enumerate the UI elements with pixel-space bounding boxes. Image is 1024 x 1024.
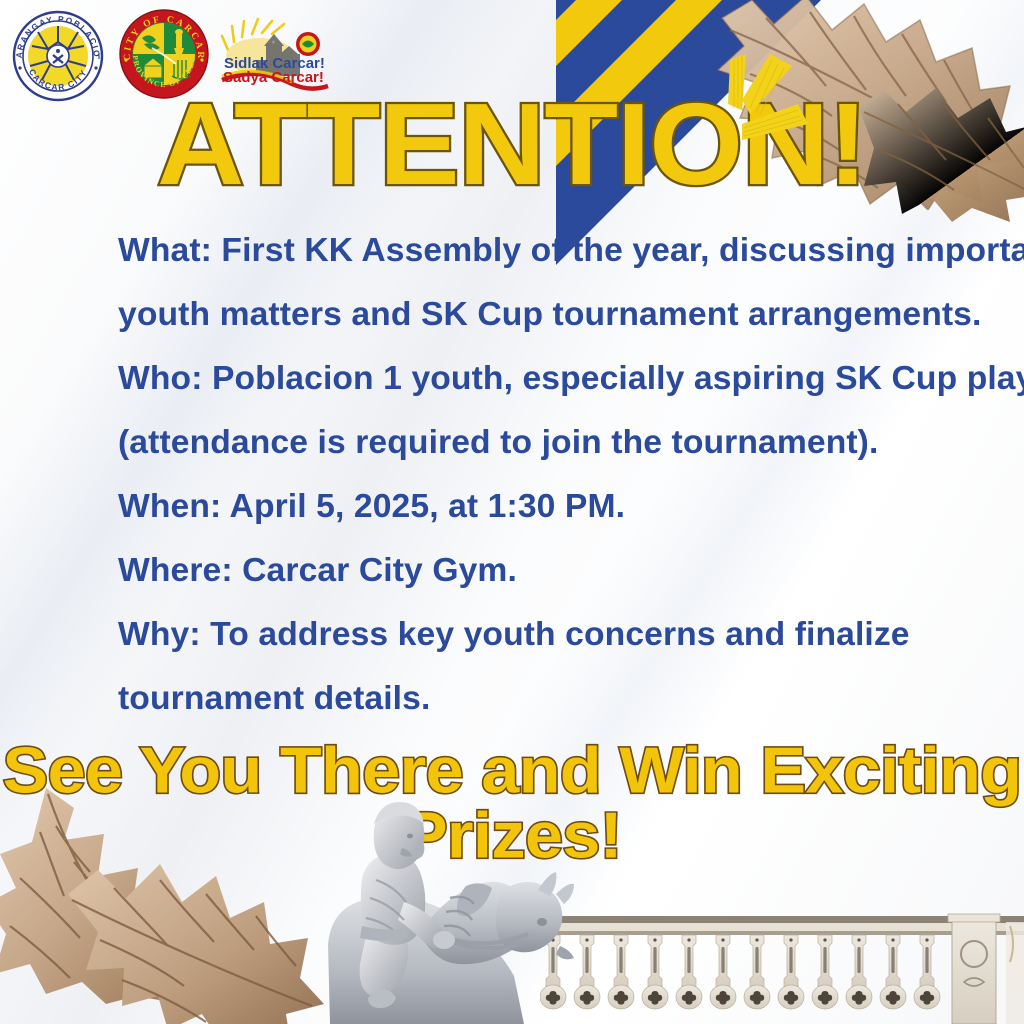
- seal-numeral: I: [98, 52, 100, 61]
- headline: ATTENTION!: [0, 96, 1024, 196]
- body-line: Who: Poblacion 1 youth, especially aspir…: [118, 346, 975, 410]
- body-line: youth matters and SK Cup tournament arra…: [118, 282, 975, 346]
- headline-text: ATTENTION!: [157, 90, 867, 202]
- body-line: When: April 5, 2025, at 1:30 PM.: [118, 474, 975, 538]
- equestrian-statue-image: [270, 794, 700, 1024]
- body-line: Why: To address key youth concerns and f…: [118, 602, 975, 666]
- poster-canvas: BARANGAY POBLACION CARCAR CITY I: [0, 0, 1024, 1024]
- balustrade-pillar: [948, 914, 1024, 1024]
- body-line: (attendance is required to join the tour…: [118, 410, 975, 474]
- body-line: What: First KK Assembly of the year, dis…: [118, 218, 975, 282]
- body-text-block: What: First KK Assembly of the year, dis…: [118, 218, 958, 730]
- body-line: tournament details.: [118, 666, 975, 730]
- body-line: Where: Carcar City Gym.: [118, 538, 975, 602]
